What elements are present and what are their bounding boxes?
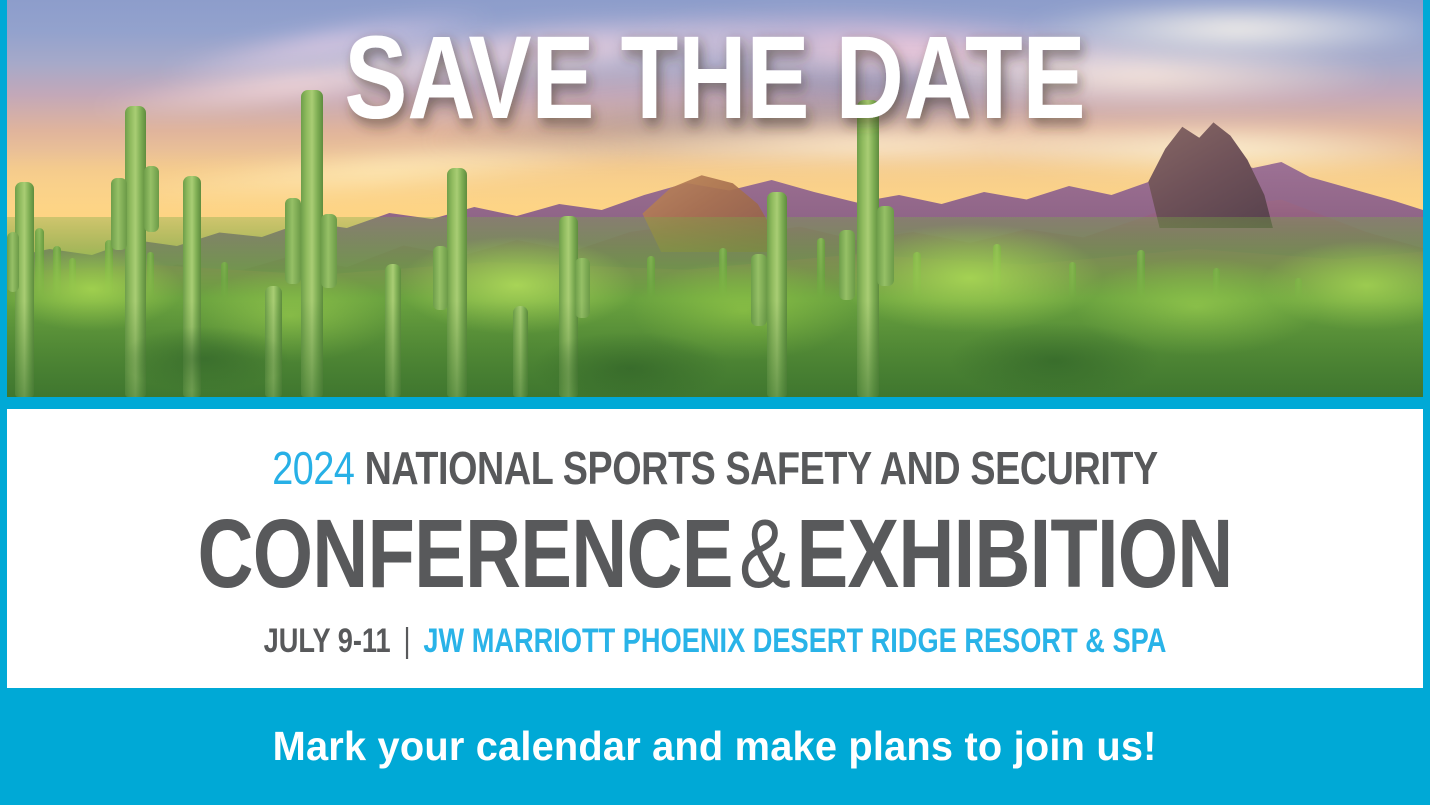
event-title-exhibition: EXHIBITION <box>796 499 1232 608</box>
saguaro-arm <box>839 230 855 300</box>
foreground-vegetation-shadow <box>7 301 1423 397</box>
call-to-action-message: Mark your calendar and make plans to joi… <box>273 723 1157 770</box>
event-dates: JULY 9-11 <box>264 622 391 660</box>
event-year: 2024 <box>272 442 354 494</box>
saguaro-arm <box>111 178 127 250</box>
svg-text:SAVE THE DATE: SAVE THE DATE <box>344 12 1085 143</box>
date-venue-separator: | <box>391 622 424 660</box>
saguaro-arm <box>7 232 19 292</box>
event-info-panel: 2024 NATIONAL SPORTS SAFETY AND SECURITY… <box>7 409 1423 688</box>
event-venue: JW MARRIOTT PHOENIX DESERT RIDGE RESORT … <box>423 622 1166 660</box>
event-title-conference: CONFERENCE <box>197 499 732 608</box>
cyan-divider-stripe <box>0 397 1430 409</box>
save-the-date-banner: SAVE THE DATE 2024 NATIONAL SPORTS SAFET… <box>0 0 1430 805</box>
event-org-name: NATIONAL SPORTS SAFETY AND SECURITY <box>354 442 1157 494</box>
saguaro-arm <box>285 198 301 284</box>
event-title-ampersand: & <box>733 499 797 608</box>
call-to-action-bar: Mark your calendar and make plans to joi… <box>0 688 1430 805</box>
saguaro-arm <box>321 214 337 288</box>
saguaro-arm <box>144 166 159 232</box>
event-date-venue-line: JULY 9-11|JW MARRIOTT PHOENIX DESERT RID… <box>149 602 1282 658</box>
save-the-date-headline: SAVE THE DATE <box>7 12 1423 152</box>
hero-photo: SAVE THE DATE <box>7 0 1423 397</box>
event-organization-line: 2024 NATIONAL SPORTS SAFETY AND SECURITY <box>134 409 1295 491</box>
event-title: CONFERENCE&EXHIBITION <box>149 491 1282 602</box>
saguaro-arm <box>877 206 894 286</box>
